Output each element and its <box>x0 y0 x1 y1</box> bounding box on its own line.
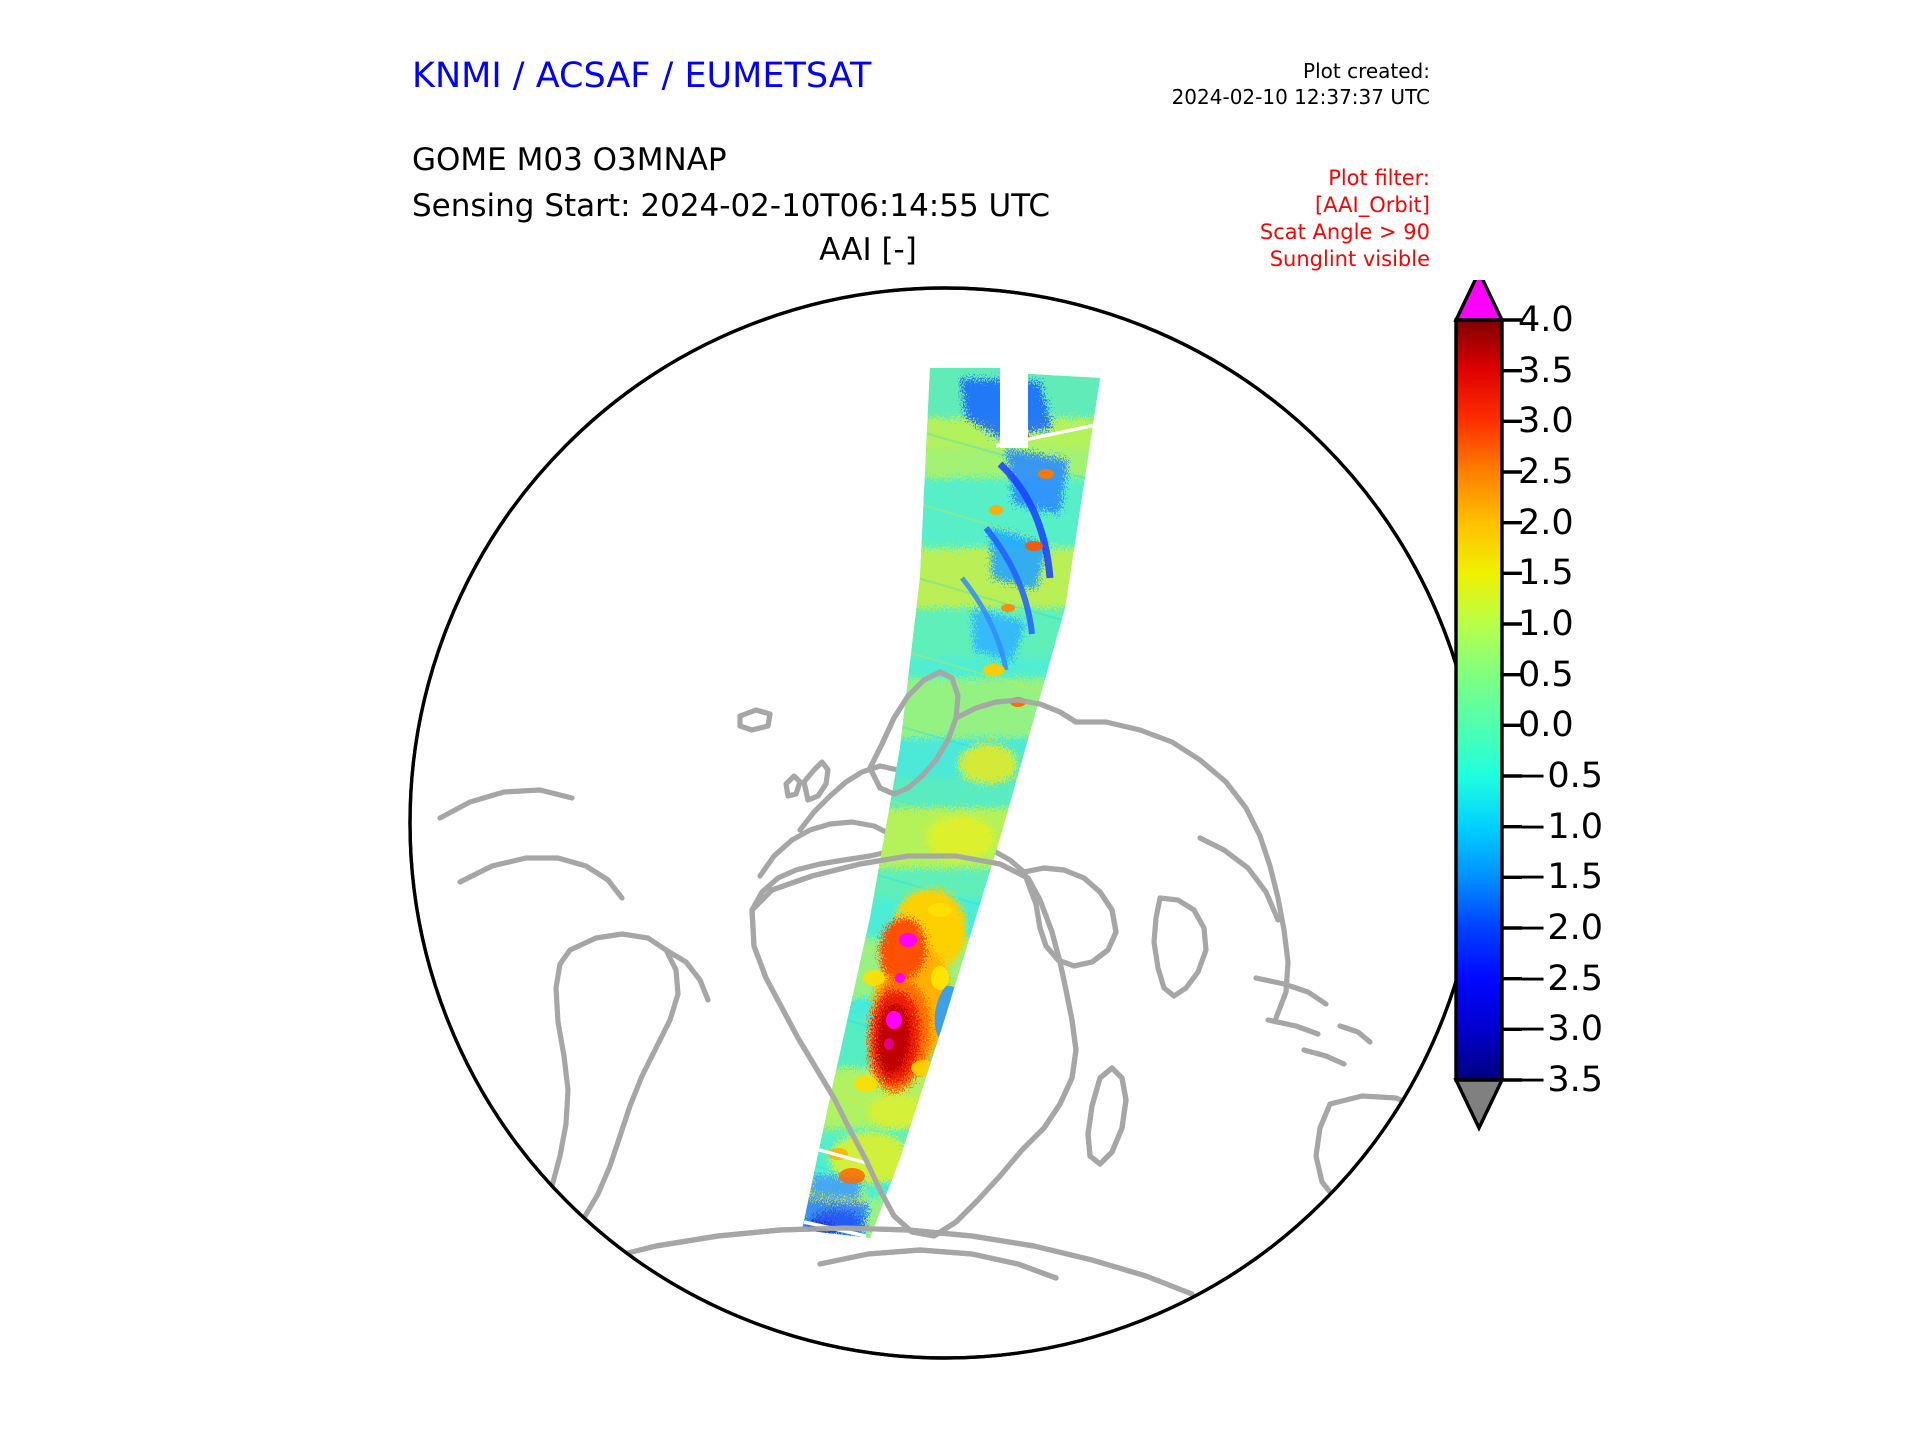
colorbar-label-0-5: 0.5 <box>1518 655 1574 695</box>
colorbar-label-neg-1-0: −1.0 <box>1518 807 1603 847</box>
colorbar: 4.0 3.5 3.0 2.5 2.0 1.5 1.0 0.5 0.0 −0.5… <box>1448 280 1848 1340</box>
colorbar-label-neg-2-0: −2.0 <box>1518 908 1603 948</box>
colorbar-label-neg-3-5: −3.5 <box>1518 1060 1603 1100</box>
sensing-start-text: Sensing Start: 2024-02-10T06:14:55 UTC <box>412 188 1050 224</box>
colorbar-gradient <box>1456 320 1502 1080</box>
product-title: GOME M03 O3MNAP <box>412 142 727 178</box>
plot-created-value: 2024-02-10 12:37:37 UTC <box>1172 84 1430 110</box>
colorbar-label-1-0: 1.0 <box>1518 604 1574 644</box>
colorbar-label-4-0: 4.0 <box>1518 300 1574 340</box>
colorbar-label-2-0: 2.0 <box>1518 503 1574 543</box>
plot-filter-line-1: [AAI_Orbit] <box>1260 192 1430 219</box>
colorbar-label-1-5: 1.5 <box>1518 553 1574 593</box>
colorbar-label-neg-2-5: −2.5 <box>1518 959 1603 999</box>
colorbar-label-3-5: 3.5 <box>1518 351 1574 391</box>
quantity-title: AAI [-] <box>819 232 917 268</box>
colorbar-over-arrow <box>1456 280 1502 320</box>
plot-created-label: Plot created: <box>1172 58 1430 84</box>
plot-filter-line-2: Scat Angle > 90 <box>1260 219 1430 246</box>
colorbar-label-neg-0-5: −0.5 <box>1518 756 1603 796</box>
plot-filter-block: Plot filter: [AAI_Orbit] Scat Angle > 90… <box>1260 165 1430 273</box>
plot-created-block: Plot created: 2024-02-10 12:37:37 UTC <box>1172 58 1430 110</box>
colorbar-label-0-0: 0.0 <box>1518 705 1574 745</box>
colorbar-label-neg-1-5: −1.5 <box>1518 857 1603 897</box>
orthographic-globe <box>400 278 1490 1368</box>
map-canvas <box>400 278 1490 1368</box>
colorbar-svg <box>1448 280 1848 1340</box>
organisation-header: KNMI / ACSAF / EUMETSAT <box>412 56 871 96</box>
colorbar-under-arrow <box>1456 1080 1502 1128</box>
colorbar-label-neg-3-0: −3.0 <box>1518 1009 1603 1049</box>
plot-page: KNMI / ACSAF / EUMETSAT GOME M03 O3MNAP … <box>0 0 1920 1440</box>
colorbar-label-2-5: 2.5 <box>1518 452 1574 492</box>
quantity-title-row: AAI [-] <box>0 232 1860 268</box>
plot-filter-line-3: Sunglint visible <box>1260 246 1430 273</box>
plot-filter-title: Plot filter: <box>1260 165 1430 192</box>
colorbar-label-3-0: 3.0 <box>1518 401 1574 441</box>
